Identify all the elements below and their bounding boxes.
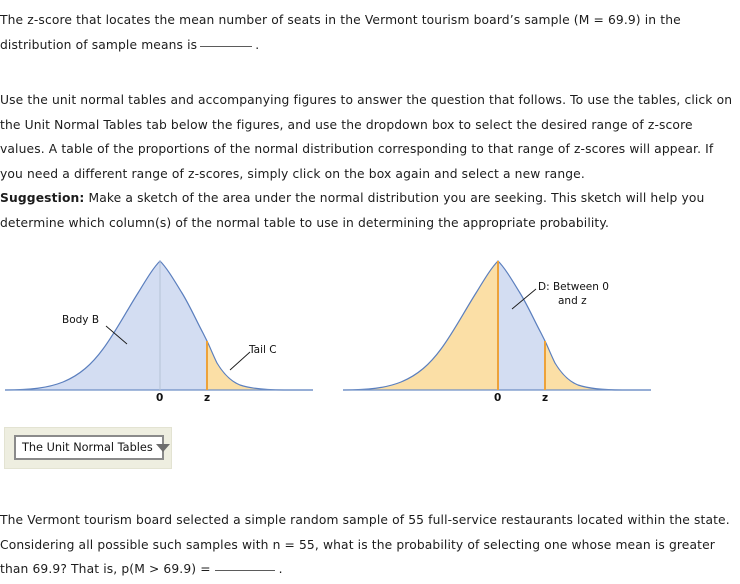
question-2-prompt: The Vermont tourism board selected a sim… [0, 513, 730, 576]
chevron-down-icon [156, 444, 170, 452]
unit-normal-tables-dropdown[interactable]: The Unit Normal Tables [14, 435, 164, 460]
tick-label-zero-left: 0 [156, 392, 163, 404]
question-1-answer-blank[interactable] [200, 35, 252, 47]
normal-distribution-figures: Body B Tail C 0 z D: Between 0 and z 0 [0, 248, 740, 413]
suggestion-text: Suggestion: Make a sketch of the area un… [0, 186, 730, 235]
body-b-label: Body B [62, 314, 99, 327]
figure-between-zero-and-z: D: Between 0 and z 0 z [330, 248, 670, 413]
tick-label-z-right: z [542, 392, 548, 404]
suggestion-body: Make a sketch of the area under the norm… [0, 191, 704, 230]
question-1-period: . [255, 38, 259, 52]
question-1-prompt: The z-score that locates the mean number… [0, 13, 681, 52]
question-2-answer-blank[interactable] [215, 559, 275, 571]
tail-c-label: Tail C [249, 344, 277, 357]
figure-body-tail: Body B Tail C 0 z [0, 248, 340, 413]
between-label-line1: D: Between 0 [538, 281, 609, 294]
instructions-text: Use the unit normal tables and accompany… [0, 88, 738, 186]
question-1-text: The z-score that locates the mean number… [0, 8, 735, 57]
between-zero-z-chart [330, 248, 670, 398]
between-label-line2: and z [558, 295, 587, 308]
tick-label-zero-right: 0 [494, 392, 501, 404]
tail-c-pointer [230, 352, 250, 370]
body-tail-chart [0, 248, 340, 398]
unit-normal-tables-tab: The Unit Normal Tables [4, 427, 172, 469]
question-2-period: . [279, 562, 283, 576]
question-2-text: The Vermont tourism board selected a sim… [0, 508, 730, 582]
region-right-tail [545, 341, 651, 390]
region-body-b [5, 261, 207, 390]
dropdown-selected-value: The Unit Normal Tables [22, 441, 153, 454]
suggestion-label: Suggestion: [0, 191, 84, 205]
tick-label-z-left: z [204, 392, 210, 404]
